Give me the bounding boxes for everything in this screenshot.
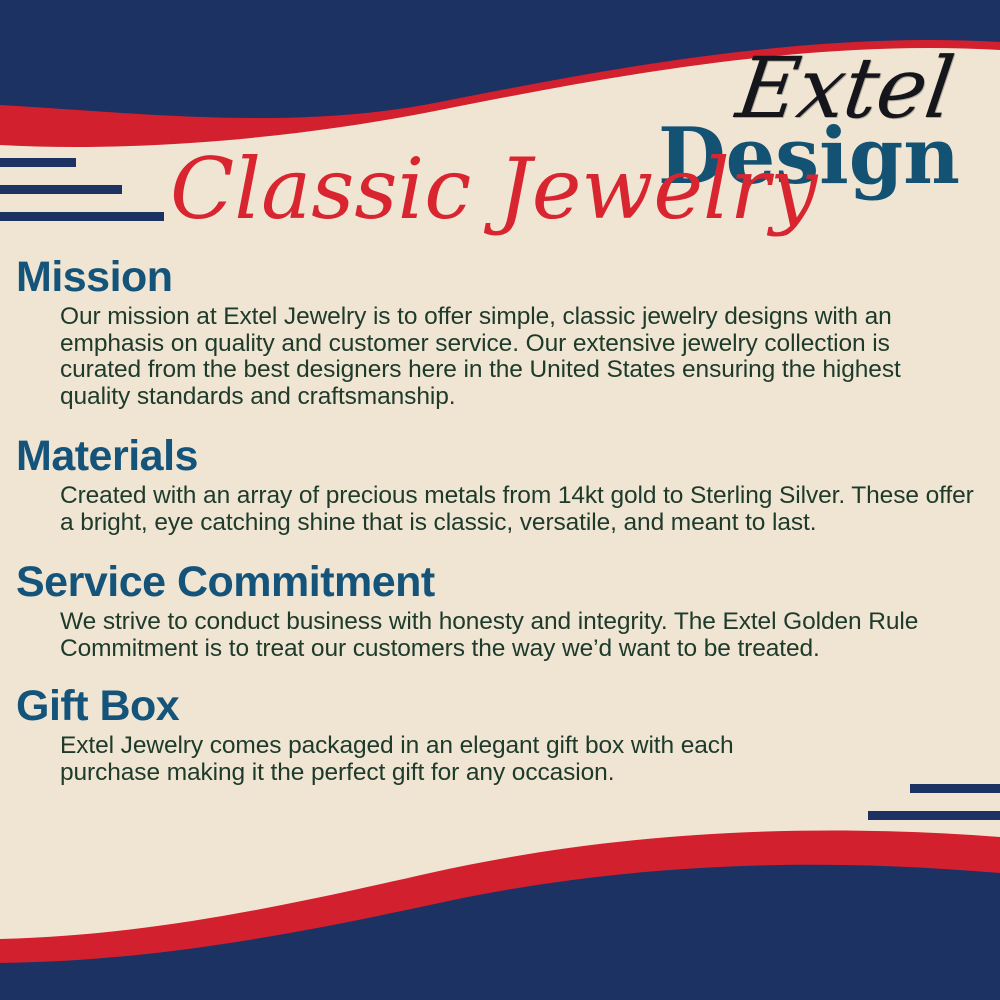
section-body-service-commitment: We strive to conduct business with hones… [60, 609, 975, 662]
section-body-materials: Created with an array of precious metals… [60, 483, 975, 536]
brand-name-extel: Extel [652, 46, 958, 130]
section-heading-gift-box: Gift Box [16, 684, 1000, 729]
bottom-wave-navy-band [0, 865, 1000, 1000]
right-rule-long [825, 838, 1000, 847]
section-body-gift-box: Extel Jewelry comes packaged in an elega… [60, 733, 780, 786]
section-gift-box: Gift Box Extel Jewelry comes packaged in… [0, 684, 1000, 786]
content-area: Mission Our mission at Extel Jewelry is … [0, 255, 1000, 786]
right-rule-medium [868, 811, 1000, 820]
left-rule-long [0, 212, 164, 221]
section-materials: Materials Created with an array of preci… [0, 434, 1000, 536]
page-title: Classic Jewelry [170, 140, 818, 238]
left-rule-medium [0, 185, 122, 194]
poster-canvas: Extel Design Classic Jewelry Mission Our… [0, 0, 1000, 1000]
section-heading-materials: Materials [16, 434, 1000, 479]
section-body-mission: Our mission at Extel Jewelry is to offer… [60, 304, 975, 410]
left-rule-short [0, 158, 76, 167]
right-rule-short [910, 784, 1000, 793]
section-heading-mission: Mission [16, 255, 1000, 300]
section-heading-service-commitment: Service Commitment [16, 560, 1000, 605]
right-rule-group [800, 784, 1000, 865]
section-mission: Mission Our mission at Extel Jewelry is … [0, 255, 1000, 410]
section-service-commitment: Service Commitment We strive to conduct … [0, 560, 1000, 662]
